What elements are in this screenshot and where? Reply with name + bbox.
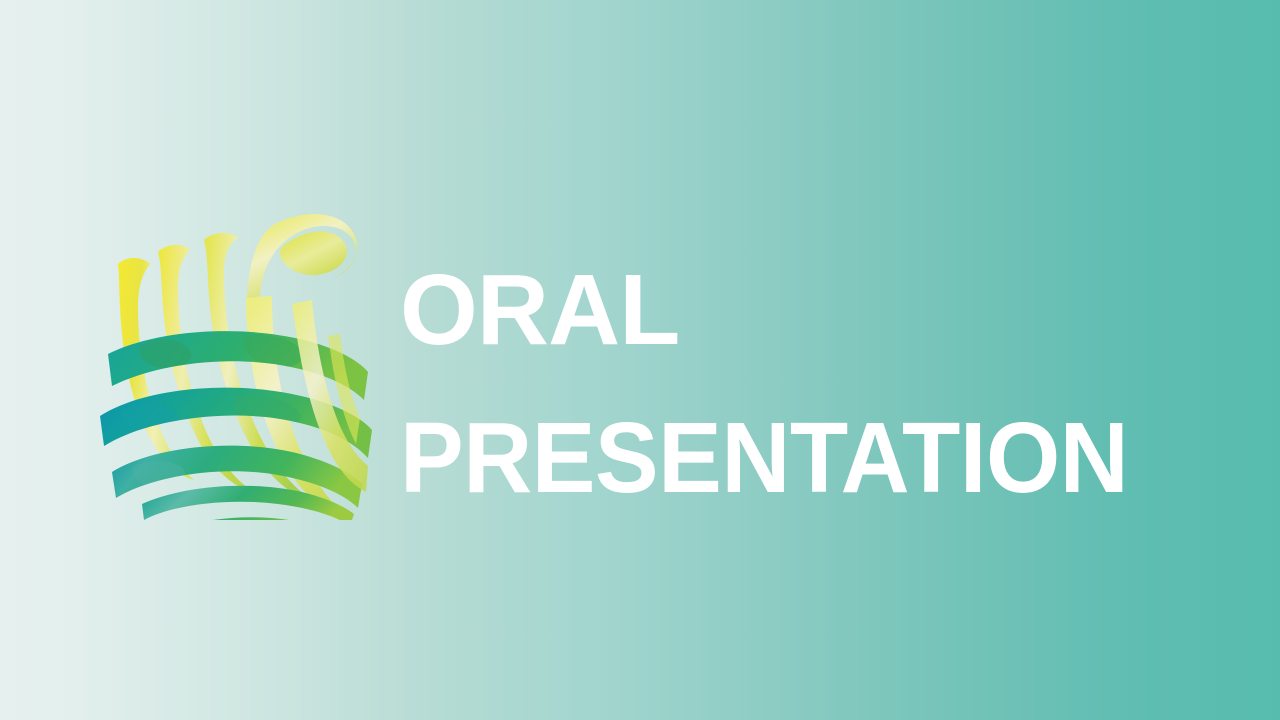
title-line-oral: ORAL — [400, 236, 1200, 384]
title-block: ORAL PRESENTATION — [400, 236, 1200, 532]
title-line-presentation: PRESENTATION — [400, 384, 1164, 532]
logo-leaf-curl — [247, 214, 357, 300]
spiral-ribbon-globe-icon — [96, 204, 380, 520]
slide-canvas: ORAL PRESENTATION — [0, 0, 1280, 720]
